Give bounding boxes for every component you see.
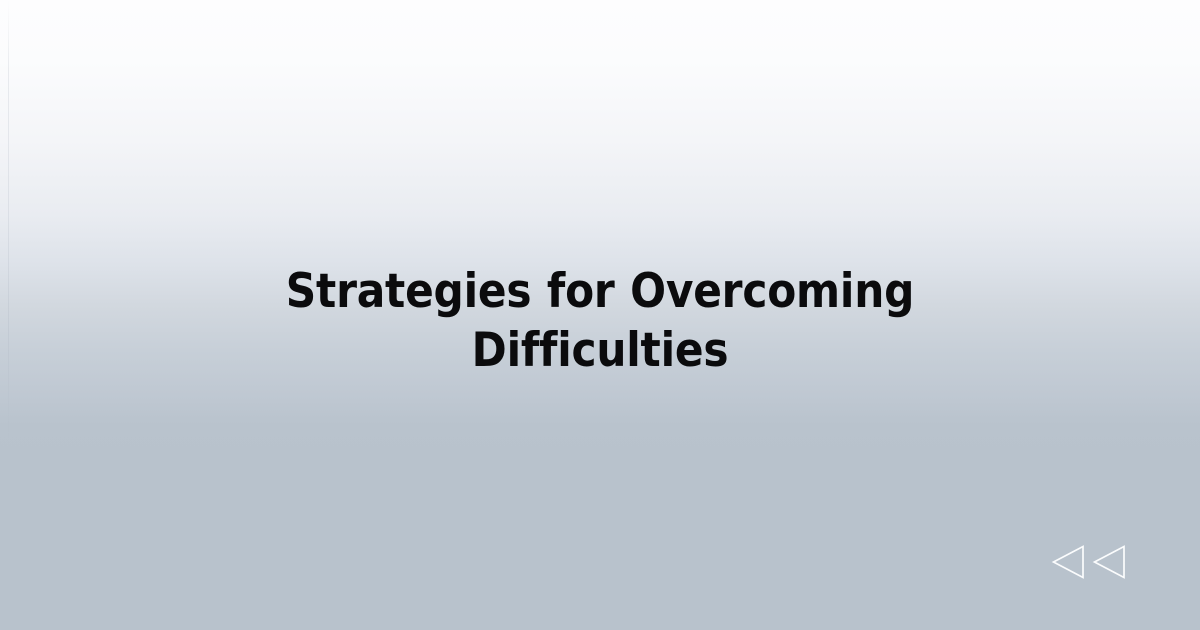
rewind-control[interactable] [1051,544,1126,580]
title-block: Strategies for Overcoming Difficulties [0,262,1200,380]
page-title: Strategies for Overcoming Difficulties [276,262,924,380]
triangle-left-first-icon[interactable] [1051,544,1085,580]
triangle-left-second-icon[interactable] [1092,544,1126,580]
slide-canvas: Strategies for Overcoming Difficulties [0,0,1200,630]
